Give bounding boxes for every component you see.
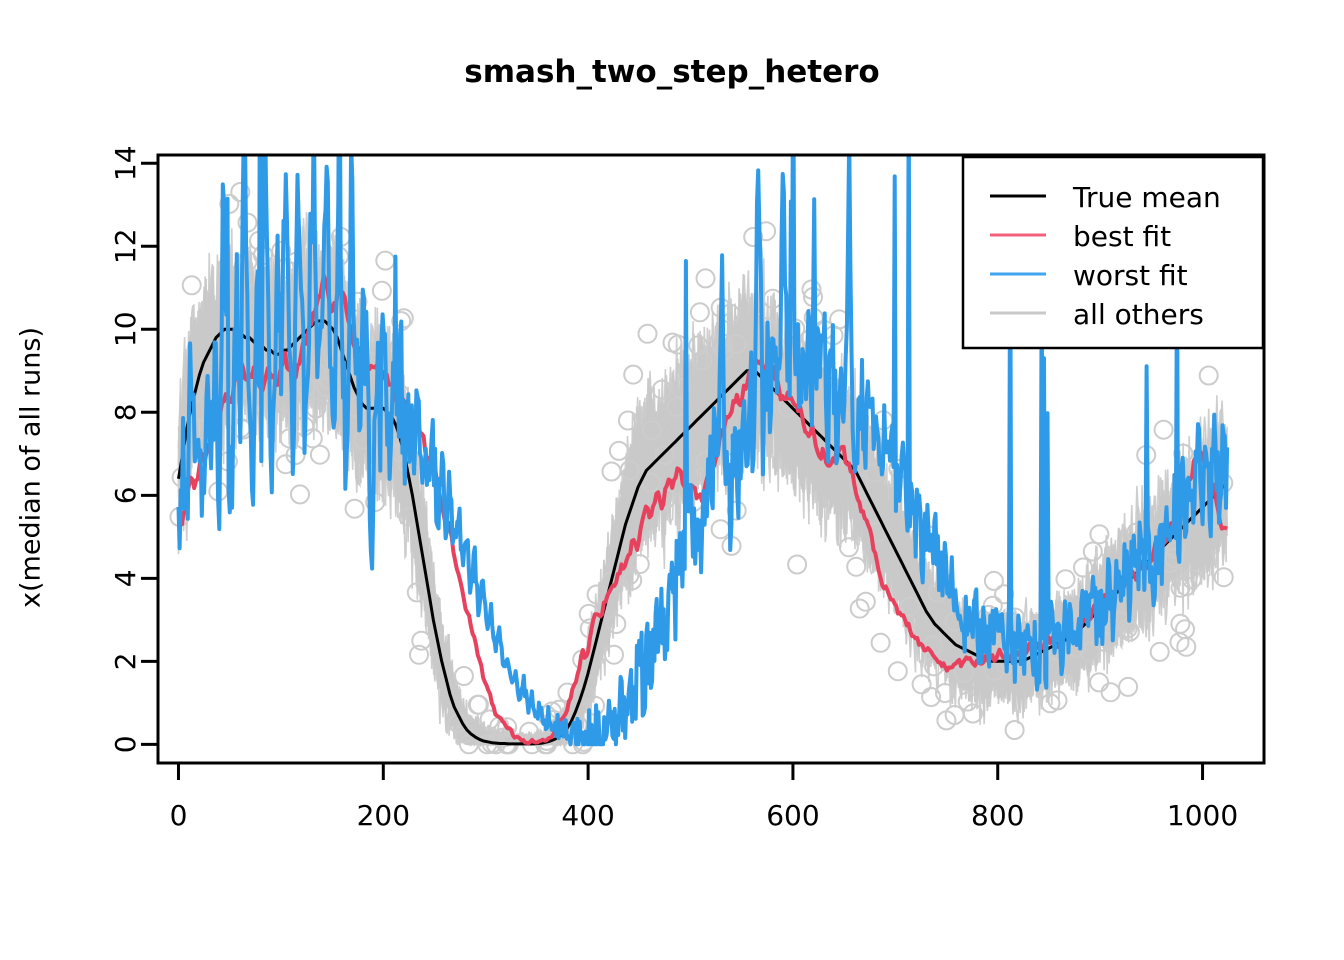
legend-item-label[interactable]: worst fit	[1073, 259, 1188, 292]
y-tick-label: 0	[109, 735, 142, 753]
legend-item-label[interactable]: all others	[1073, 298, 1204, 331]
x-tick-label: 400	[561, 799, 614, 832]
y-tick-label: 12	[109, 228, 142, 264]
x-tick-label: 600	[766, 799, 819, 832]
x-axis-ticks: 02004006008001000	[170, 763, 1239, 832]
y-tick-label: 6	[109, 486, 142, 504]
y-axis-ticks: 02468101214	[109, 145, 158, 753]
legend[interactable]: True meanbest fitworst fitall others	[963, 157, 1263, 348]
legend-item-label[interactable]: best fit	[1073, 220, 1171, 253]
legend-item-label[interactable]: True mean	[1072, 181, 1221, 214]
y-tick-label: 10	[109, 311, 142, 347]
x-tick-label: 800	[971, 799, 1024, 832]
x-tick-label: 1000	[1167, 799, 1238, 832]
y-tick-label: 2	[109, 652, 142, 670]
plot-area: 02004006008001000 02468101214 True meanb…	[0, 0, 1344, 960]
x-tick-label: 200	[357, 799, 410, 832]
y-tick-label: 8	[109, 403, 142, 421]
y-tick-label: 14	[109, 145, 142, 181]
x-tick-label: 0	[170, 799, 188, 832]
y-tick-label: 4	[109, 569, 142, 587]
figure-canvas: smash_two_step_hetero x(median of all ru…	[0, 0, 1344, 960]
